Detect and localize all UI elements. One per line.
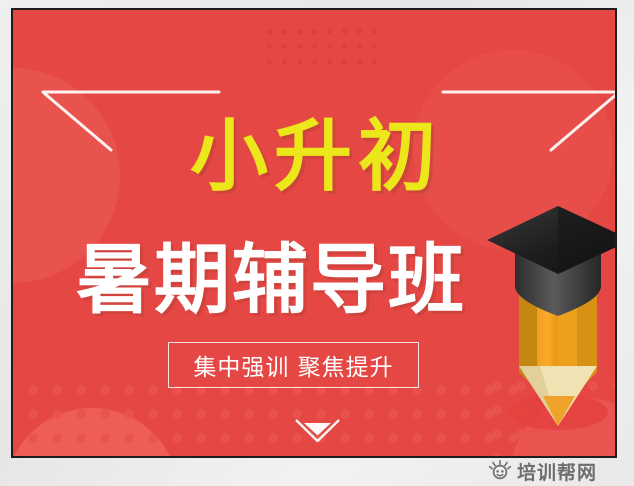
poster-tagline-box: 集中强训 聚焦提升 xyxy=(168,342,419,388)
down-chevron-icon xyxy=(294,416,341,444)
watermark: 培训帮网 xyxy=(489,456,634,486)
poster-title-main: 小升初 xyxy=(13,118,617,196)
sun-face-icon xyxy=(489,460,511,482)
poster-frame: 小升初 暑期辅导班 集中强训 聚焦提升 xyxy=(0,0,634,486)
poster-title-sub: 暑期辅导班 xyxy=(13,242,529,318)
poster-tagline-text: 集中强训 聚焦提升 xyxy=(193,348,393,382)
watermark-text: 培训帮网 xyxy=(517,458,597,485)
poster-canvas: 小升初 暑期辅导班 集中强训 聚焦提升 xyxy=(11,8,617,458)
pencil-with-graduation-cap xyxy=(485,200,617,440)
